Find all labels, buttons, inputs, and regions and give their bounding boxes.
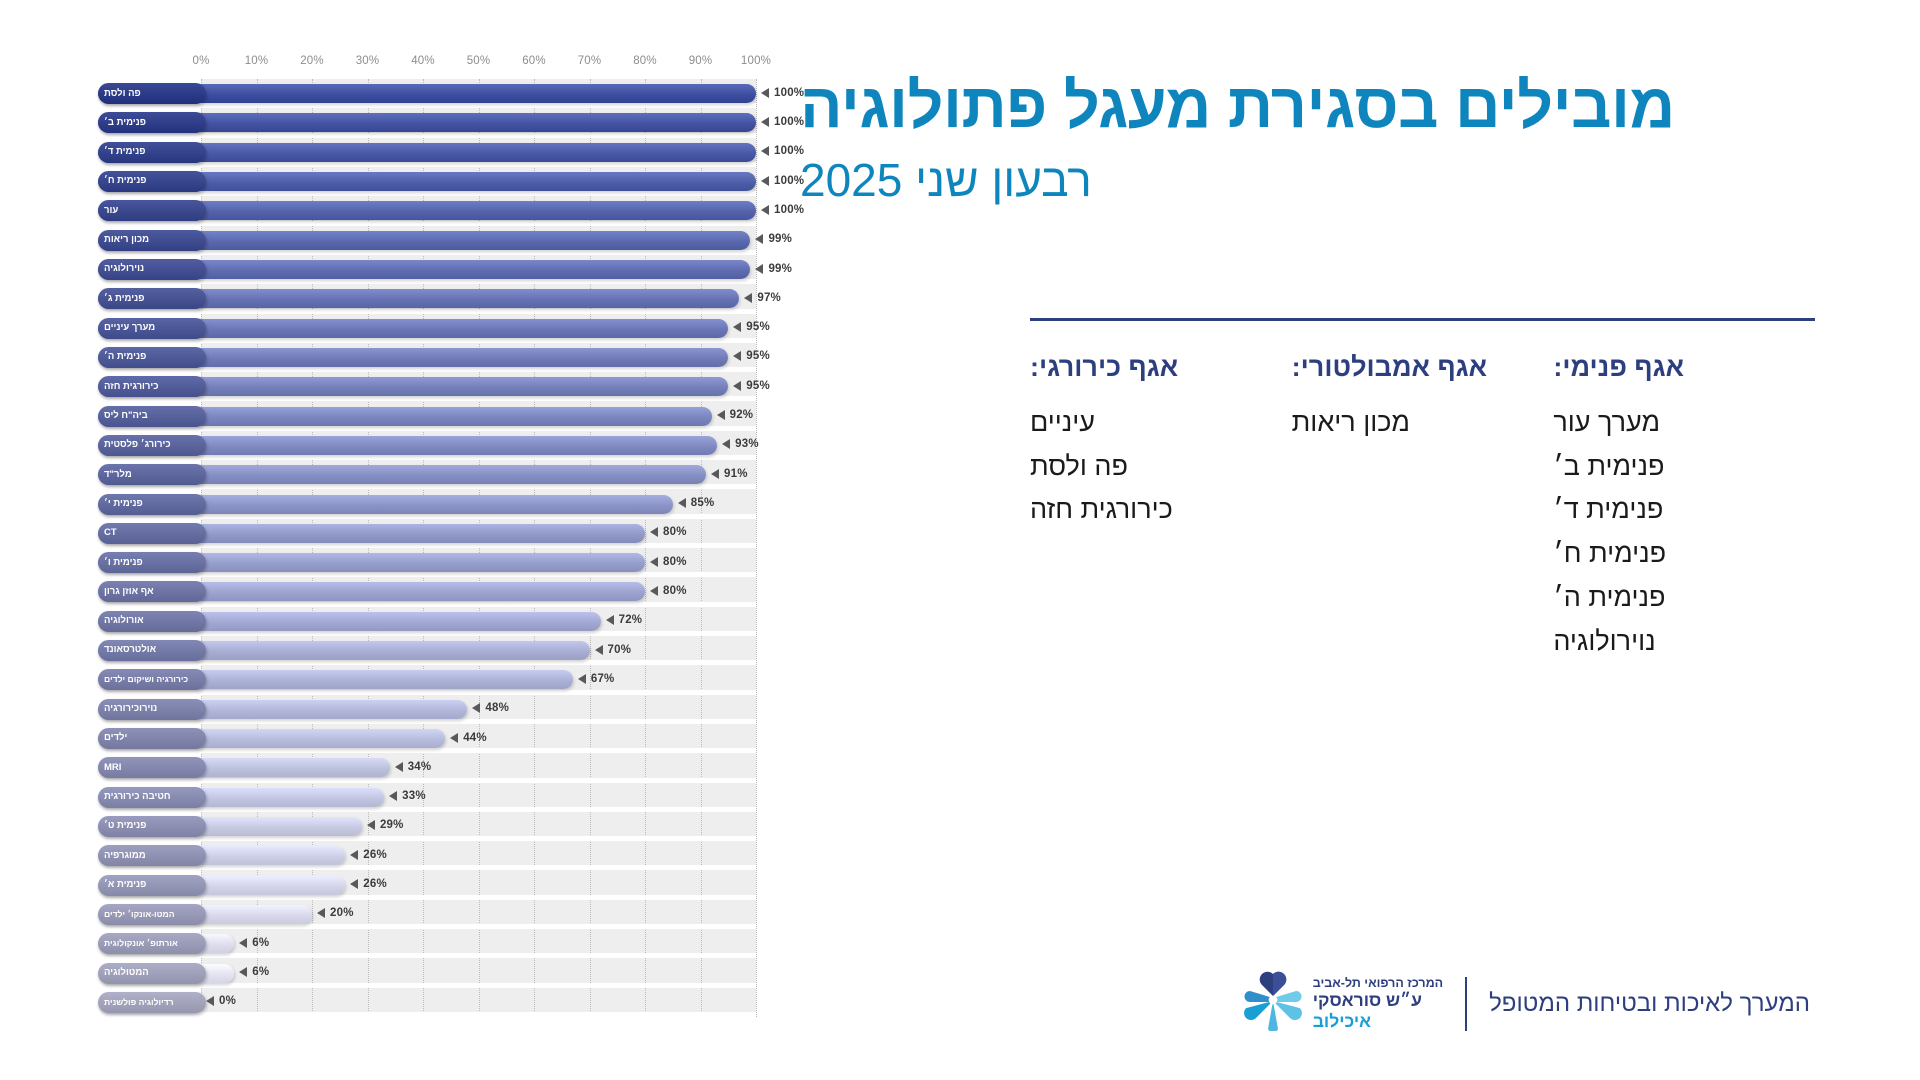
- row-separator: [201, 103, 756, 108]
- legend-item: פנימית ד׳: [1553, 488, 1815, 532]
- legend-column-heading: אגף אמבולטורי:: [1292, 352, 1554, 383]
- value-marker-icon: [239, 967, 247, 977]
- chart-value-label: 80%: [650, 556, 687, 568]
- value-marker-icon: [717, 410, 725, 420]
- value-marker-icon: [350, 850, 358, 860]
- value-marker-icon: [722, 439, 730, 449]
- chart-value-label: 44%: [450, 732, 487, 744]
- value-marker-icon: [578, 674, 586, 684]
- chart-value-label: 100%: [761, 175, 804, 187]
- row-separator: [201, 367, 756, 372]
- legend-item: נוירולוגיה: [1553, 620, 1815, 664]
- value-text: 95%: [746, 380, 770, 392]
- axis-tick-label: 30%: [356, 55, 380, 67]
- value-marker-icon: [450, 733, 458, 743]
- value-marker-icon: [733, 351, 741, 361]
- legend-column-1: אגף פנימי:מערך עורפנימית ב׳פנימית ד׳פנימ…: [1553, 352, 1815, 663]
- chart-value-label: 80%: [650, 526, 687, 538]
- chart-value-label: 100%: [761, 204, 804, 216]
- dashboard-page: 0%10%20%30%40%50%60%70%80%90%100% פה ולס…: [0, 0, 1920, 1080]
- row-separator: [201, 309, 756, 314]
- legend-column-heading: אגף כירורגי:: [1030, 352, 1292, 383]
- value-text: 100%: [774, 175, 804, 187]
- chart-row-label: ילדים: [98, 728, 206, 749]
- legend-item: פנימית ח׳: [1553, 532, 1815, 576]
- value-text: 97%: [757, 292, 781, 304]
- row-separator: [201, 396, 756, 401]
- chart-row-label: פנימית ב׳: [98, 112, 206, 133]
- axis-tick-label: 90%: [689, 55, 713, 67]
- value-marker-icon: [755, 264, 763, 274]
- chart-row-label: פנימית ה׳: [98, 347, 206, 368]
- chart-value-label: 67%: [578, 673, 615, 685]
- chart-value-label: 6%: [239, 937, 269, 949]
- value-marker-icon: [761, 117, 769, 127]
- chart-row-label: המטולוגיה: [98, 963, 206, 984]
- value-text: 6%: [252, 937, 269, 949]
- row-separator: [201, 191, 756, 196]
- pathology-bar-chart: 0%10%20%30%40%50%60%70%80%90%100% פה ולס…: [98, 55, 758, 1030]
- chart-row-label: פה ולסת: [98, 83, 206, 104]
- axis-tick-label: 20%: [300, 55, 324, 67]
- footer-divider: [1465, 977, 1467, 1031]
- value-marker-icon: [733, 381, 741, 391]
- axis-tick-label: 40%: [411, 55, 435, 67]
- row-separator: [201, 953, 756, 958]
- value-text: 95%: [746, 350, 770, 362]
- value-marker-icon: [711, 469, 719, 479]
- chart-value-label: 29%: [367, 819, 404, 831]
- chart-x-axis: 0%10%20%30%40%50%60%70%80%90%100%: [98, 55, 758, 79]
- legend-item: פנימית ב׳: [1553, 445, 1815, 489]
- chart-row-label: כירורג׳ פלסטית: [98, 435, 206, 456]
- chart-plot-area: פה ולסת100%פנימית ב׳100%פנימית ד׳100%פני…: [98, 79, 758, 1017]
- row-separator: [201, 514, 756, 519]
- row-separator: [201, 602, 756, 607]
- chart-row-label: נוירולוגיה: [98, 259, 206, 280]
- chart-row-label: CT: [98, 523, 206, 544]
- value-marker-icon: [761, 205, 769, 215]
- value-marker-icon: [606, 615, 614, 625]
- value-marker-icon: [317, 908, 325, 918]
- chart-row-label: רדיולוגיה פולשנית: [98, 992, 206, 1013]
- legend-column-heading: אגף פנימי:: [1553, 352, 1815, 383]
- chart-row-label: ביה"ח ליס: [98, 406, 206, 427]
- chart-row-label: פנימית ח׳: [98, 171, 206, 192]
- chart-row-label: אולטרסאונד: [98, 640, 206, 661]
- legend-item: עיניים: [1030, 401, 1292, 445]
- row-separator: [201, 719, 756, 724]
- axis-tick-label: 0%: [192, 55, 209, 67]
- legend-item: מערך עור: [1553, 401, 1815, 445]
- row-separator: [201, 338, 756, 343]
- value-marker-icon: [733, 322, 741, 332]
- value-text: 0%: [219, 995, 236, 1007]
- axis-tick-label: 70%: [578, 55, 602, 67]
- chart-value-label: 92%: [717, 409, 754, 421]
- value-marker-icon: [367, 820, 375, 830]
- chart-row-label: ממוגרפיה: [98, 845, 206, 866]
- value-marker-icon: [650, 586, 658, 596]
- chart-row-label: פנימית ג׳: [98, 288, 206, 309]
- chart-row-label: אורולוגיה: [98, 611, 206, 632]
- value-text: 44%: [463, 732, 487, 744]
- chart-value-label: 100%: [761, 87, 804, 99]
- value-text: 100%: [774, 87, 804, 99]
- value-text: 70%: [608, 644, 632, 656]
- chart-row-label: פנימית ו׳: [98, 552, 206, 573]
- chart-row-label: עור: [98, 200, 206, 221]
- logo-line-3: איכילוב: [1313, 1011, 1443, 1031]
- value-text: 80%: [663, 526, 687, 538]
- row-separator: [201, 983, 756, 988]
- chart-value-label: 72%: [606, 614, 643, 626]
- page-subtitle: רבעון שני 2025: [800, 153, 1890, 207]
- chart-value-label: 95%: [733, 350, 770, 362]
- value-marker-icon: [472, 703, 480, 713]
- chart-row-label: מלר"ד: [98, 464, 206, 485]
- value-marker-icon: [744, 293, 752, 303]
- chart-value-label: 33%: [389, 790, 426, 802]
- row-separator: [201, 250, 756, 255]
- axis-tick-label: 100%: [741, 55, 771, 67]
- title-block: מובילים בסגירת מעגל פתולוגיה רבעון שני 2…: [800, 72, 1890, 207]
- right-info-panel: מובילים בסגירת מעגל פתולוגיה רבעון שני 2…: [770, 0, 1920, 1080]
- row-separator: [201, 221, 756, 226]
- department-legend: אגף פנימי:מערך עורפנימית ב׳פנימית ד׳פנימ…: [1030, 352, 1815, 663]
- logo-line-1: המרכז הרפואי תל-אביב: [1313, 976, 1443, 991]
- value-text: 91%: [724, 468, 748, 480]
- chart-gridline: [756, 79, 757, 1017]
- value-text: 85%: [691, 497, 715, 509]
- legend-item: כירורגית חזה: [1030, 488, 1292, 532]
- logo-text: המרכז הרפואי תל-אביב ע״ש סוראסקי איכילוב: [1313, 976, 1443, 1031]
- chart-value-label: 80%: [650, 585, 687, 597]
- value-marker-icon: [595, 645, 603, 655]
- value-marker-icon: [389, 791, 397, 801]
- value-marker-icon: [206, 996, 214, 1006]
- value-text: 92%: [730, 409, 754, 421]
- value-text: 6%: [252, 966, 269, 978]
- row-separator: [201, 484, 756, 489]
- chart-row-label: מערך עיניים: [98, 318, 206, 339]
- chart-value-label: 95%: [733, 380, 770, 392]
- chart-row-label: מכון ריאות: [98, 230, 206, 251]
- row-separator: [201, 865, 756, 870]
- value-text: 34%: [408, 761, 432, 773]
- chart-value-label: 97%: [744, 292, 781, 304]
- value-text: 93%: [735, 438, 759, 450]
- chart-value-label: 34%: [395, 761, 432, 773]
- chart-row-label: אורתופ׳ אונקולוגית: [98, 933, 206, 954]
- logo-line-2: ע״ש סוראסקי: [1313, 990, 1443, 1010]
- axis-tick-label: 10%: [245, 55, 269, 67]
- axis-tick-label: 80%: [633, 55, 657, 67]
- chart-row-label: אף אוזן גרון: [98, 581, 206, 602]
- row-separator: [201, 162, 756, 167]
- chart-value-label: 70%: [595, 644, 632, 656]
- chart-row-label: נוירוכירורגיה: [98, 699, 206, 720]
- axis-tick-label: 60%: [522, 55, 546, 67]
- row-separator: [201, 895, 756, 900]
- row-separator: [201, 572, 756, 577]
- row-separator: [201, 836, 756, 841]
- value-text: 95%: [746, 321, 770, 333]
- chart-value-label: 100%: [761, 145, 804, 157]
- row-separator: [201, 660, 756, 665]
- chart-row-label: MRI: [98, 757, 206, 778]
- row-separator: [201, 279, 756, 284]
- chart-value-label: 26%: [350, 878, 387, 890]
- row-separator: [201, 631, 756, 636]
- row-separator: [201, 924, 756, 929]
- chart-value-label: 6%: [239, 966, 269, 978]
- value-text: 100%: [774, 145, 804, 157]
- chart-row-label: כירורגיה ושיקום ילדים: [98, 669, 206, 690]
- legend-column-2: אגף אמבולטורי:מכון ריאות: [1292, 352, 1554, 663]
- legend-item: פה ולסת: [1030, 445, 1292, 489]
- chart-value-label: 26%: [350, 849, 387, 861]
- row-separator: [201, 1012, 756, 1017]
- chart-value-label: 99%: [755, 233, 792, 245]
- row-separator: [201, 455, 756, 460]
- value-marker-icon: [761, 146, 769, 156]
- value-text: 20%: [330, 907, 354, 919]
- footer-tagline: המערך לאיכות ובטיחות המטופל: [1489, 990, 1810, 1018]
- chart-value-label: 0%: [206, 995, 236, 1007]
- value-marker-icon: [350, 879, 358, 889]
- value-marker-icon: [755, 234, 763, 244]
- value-marker-icon: [395, 762, 403, 772]
- value-marker-icon: [678, 498, 686, 508]
- chart-row-label: כירורגית חזה: [98, 376, 206, 397]
- chart-row-label: פנימית ט׳: [98, 816, 206, 837]
- value-text: 80%: [663, 556, 687, 568]
- legend-item: פנימית ה׳: [1553, 576, 1815, 620]
- value-text: 99%: [768, 233, 792, 245]
- chart-value-label: 99%: [755, 263, 792, 275]
- legend-divider-rule: [1030, 318, 1815, 321]
- value-text: 100%: [774, 116, 804, 128]
- row-separator: [201, 426, 756, 431]
- chart-value-label: 48%: [472, 702, 509, 714]
- chart-row-label: חטיבה כירורגית: [98, 787, 206, 808]
- value-marker-icon: [650, 527, 658, 537]
- axis-tick-label: 50%: [467, 55, 491, 67]
- chart-value-label: 95%: [733, 321, 770, 333]
- value-text: 100%: [774, 204, 804, 216]
- value-text: 67%: [591, 673, 615, 685]
- value-text: 48%: [485, 702, 509, 714]
- chart-row-label: פנימית א׳: [98, 875, 206, 896]
- row-separator: [201, 778, 756, 783]
- hospital-logo: המרכז הרפואי תל-אביב ע״ש סוראסקי איכילוב: [1242, 971, 1443, 1036]
- value-text: 99%: [768, 263, 792, 275]
- value-text: 33%: [402, 790, 426, 802]
- chart-value-label: 93%: [722, 438, 759, 450]
- footer: המערך לאיכות ובטיחות המטופל המרכז הרפואי…: [1242, 971, 1810, 1036]
- value-marker-icon: [761, 88, 769, 98]
- row-separator: [201, 543, 756, 548]
- value-text: 26%: [363, 878, 387, 890]
- chart-value-label: 85%: [678, 497, 715, 509]
- chart-value-label: 100%: [761, 116, 804, 128]
- row-separator: [201, 807, 756, 812]
- chart-row-label: המטו-אונקו׳ ילדים: [98, 904, 206, 925]
- value-text: 72%: [619, 614, 643, 626]
- page-title: מובילים בסגירת מעגל פתולוגיה: [800, 72, 1890, 141]
- value-text: 80%: [663, 585, 687, 597]
- value-marker-icon: [239, 938, 247, 948]
- legend-item: מכון ריאות: [1292, 401, 1554, 445]
- value-marker-icon: [761, 176, 769, 186]
- value-text: 26%: [363, 849, 387, 861]
- legend-column-3: אגף כירורגי:עינייםפה ולסתכירורגית חזה: [1030, 352, 1292, 663]
- chart-row-label: פנימית י׳: [98, 494, 206, 515]
- value-text: 29%: [380, 819, 404, 831]
- row-separator: [201, 133, 756, 138]
- value-marker-icon: [650, 557, 658, 567]
- row-separator: [201, 748, 756, 753]
- ichilov-emblem-icon: [1242, 971, 1304, 1036]
- chart-value-label: 91%: [711, 468, 748, 480]
- row-separator: [201, 690, 756, 695]
- chart-value-label: 20%: [317, 907, 354, 919]
- chart-row-label: פנימית ד׳: [98, 142, 206, 163]
